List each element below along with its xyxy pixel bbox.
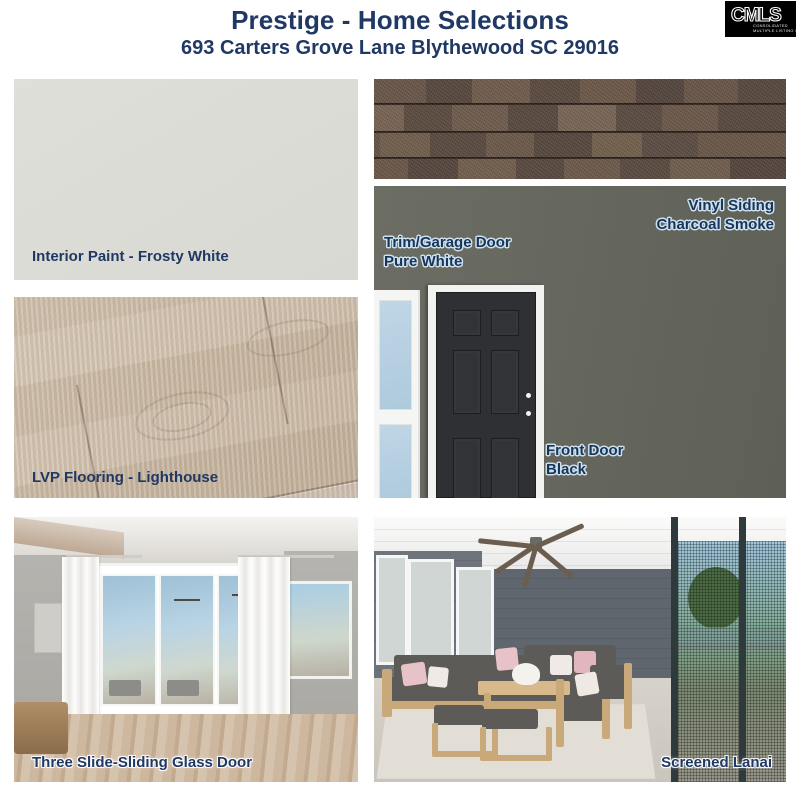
wall-art (34, 603, 62, 653)
trim-garage-door-callout: Trim/Garage Door Pure White (384, 233, 511, 271)
sofa-teak-arm (382, 669, 392, 717)
door-knob (526, 393, 531, 398)
vinyl-siding-callout-line1: Vinyl Siding (656, 196, 774, 215)
sliding-glass-door-panel: Three Slide-Sliding Glass Door (14, 517, 358, 782)
foreground-sofa (14, 702, 68, 754)
vinyl-siding-callout: Vinyl Siding Charcoal Smoke (656, 196, 774, 234)
armchair-frame (624, 663, 632, 729)
roof-shingle-panel (374, 79, 786, 179)
pink-pillow (401, 661, 428, 686)
trim-garage-callout-line2: Pure White (384, 252, 511, 271)
lvp-flooring-label: LVP Flooring - Lighthouse (32, 468, 218, 487)
screen-tree (688, 567, 744, 629)
screened-lanai-panel: Screened Lanai (374, 517, 786, 782)
screened-lanai-label: Screened Lanai (661, 753, 772, 772)
screen-post (671, 517, 678, 782)
armchair-cushion (560, 699, 604, 721)
ottoman (482, 709, 538, 729)
exterior-siding-panel: Vinyl Siding Charcoal Smoke Trim/Garage … (374, 186, 786, 498)
lanai-screen (672, 541, 786, 782)
front-door-callout-line2: Black (546, 460, 623, 479)
trim-garage-callout-line1: Trim/Garage Door (384, 233, 511, 252)
white-pillow (550, 655, 572, 675)
vinyl-siding-callout-line2: Charcoal Smoke (656, 215, 774, 234)
screen-fence (672, 645, 786, 649)
coral-centerpiece (512, 663, 540, 685)
screen-water (672, 627, 786, 651)
property-address: 693 Carters Grove Lane Blythewood SC 290… (0, 36, 800, 61)
page-header: Prestige - Home Selections 693 Carters G… (0, 0, 800, 72)
cmls-logo: CMLS CONSOLIDATEDMULTIPLE LISTING SERVIC… (725, 1, 796, 37)
front-door-frame (428, 285, 544, 498)
white-pillow (574, 671, 599, 696)
porch-window (376, 555, 408, 665)
white-pillow (427, 666, 449, 688)
front-door-slab (436, 292, 536, 498)
ottoman-frame (480, 727, 552, 761)
interior-paint-swatch-panel: Interior Paint - Frosty White (14, 79, 358, 280)
sliding-glass-door-label: Three Slide-Sliding Glass Door (32, 753, 252, 772)
front-door-callout: Front Door Black (546, 441, 623, 479)
sidelight-window (374, 290, 420, 498)
porch-window (408, 559, 454, 663)
lvp-flooring-panel: LVP Flooring - Lighthouse (14, 297, 358, 498)
lanai-photo (374, 517, 786, 782)
shingle-photo (374, 79, 786, 179)
door-deadbolt (526, 411, 531, 416)
porch-window (456, 567, 494, 661)
ottoman (434, 705, 484, 725)
title-block: Prestige - Home Selections 693 Carters G… (0, 5, 800, 61)
interior-paint-label: Interior Paint - Frosty White (32, 247, 229, 266)
armchair-frame (556, 679, 564, 747)
cmls-logo-subtext: CONSOLIDATEDMULTIPLE LISTING SERVICE (753, 23, 796, 33)
sliding-door-photo (14, 517, 358, 782)
page-title: Prestige - Home Selections (0, 5, 800, 35)
screen-post (739, 517, 746, 782)
front-door-callout-line1: Front Door (546, 441, 623, 460)
